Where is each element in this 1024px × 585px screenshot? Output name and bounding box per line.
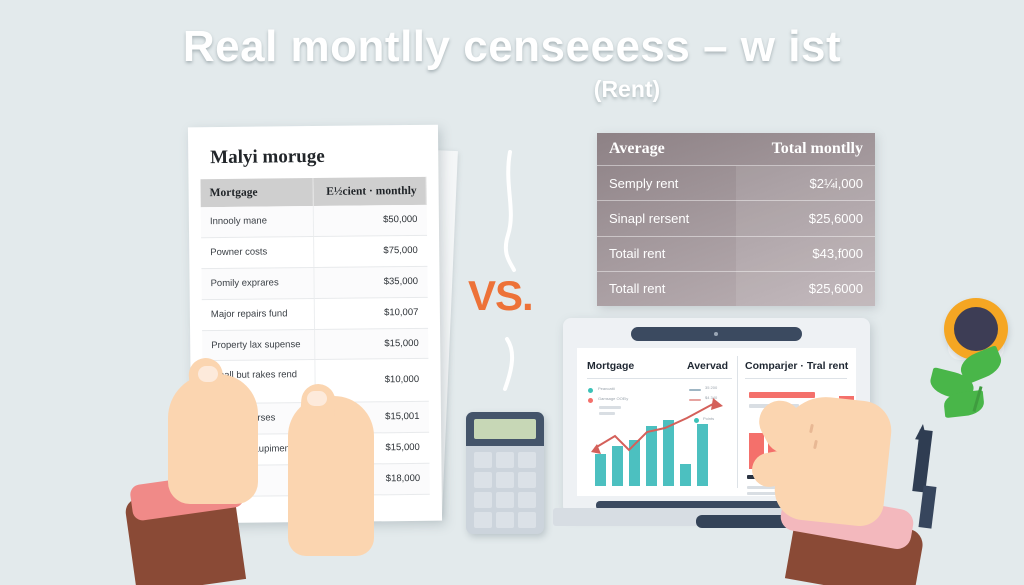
rent-table: Average Total montlly Semply rent$2¼i,00… (597, 133, 875, 306)
row-value: $25,6000 (736, 271, 875, 306)
row-value: $25,6000 (736, 201, 875, 236)
calculator[interactable] (466, 412, 544, 534)
table-row: Semply rent$2¼i,000 (597, 166, 875, 201)
calculator-key[interactable] (474, 512, 492, 528)
table-row: Totall rent$25,6000 (597, 271, 875, 306)
row-label: Major repairs fund (202, 298, 315, 330)
left-thumbnail (198, 366, 218, 382)
calculator-key[interactable] (474, 492, 492, 508)
row-value: $75,000 (314, 235, 427, 267)
divider (745, 378, 847, 379)
row-label: Pomily exprares (201, 267, 314, 299)
table-row: Major repairs fund$10,007 (202, 297, 428, 330)
row-value: $10,007 (314, 297, 427, 329)
table-row: Totail rent$43,f000 (597, 236, 875, 271)
row-label: Powner costs (201, 236, 314, 268)
legend-label-1: Peancatti (598, 386, 615, 391)
bar (680, 464, 691, 486)
calculator-key[interactable] (496, 472, 514, 488)
right-fingernail (307, 391, 327, 406)
calculator-key[interactable] (496, 492, 514, 508)
calculator-key[interactable] (518, 472, 536, 488)
row-label: Sinapl rersent (597, 201, 736, 236)
calculator-key[interactable] (496, 452, 514, 468)
page-title: Real montlly censeeess – w ist (0, 24, 1024, 70)
calculator-key[interactable] (474, 452, 492, 468)
panel-divider (737, 356, 738, 488)
table-header-row: Average Total montlly (597, 133, 875, 166)
squiggle-top-icon (490, 150, 530, 285)
table-row: Pomily exprares$35,000 (201, 266, 427, 299)
table-header-row: Mortgage E½cient · monthly (200, 177, 426, 207)
column-header-total: Total montlly (736, 133, 875, 166)
progress-bar-coral (749, 392, 815, 398)
row-value: $50,000 (314, 205, 427, 237)
scene: Real montlly censeeess – w ist (Rent) VS… (0, 0, 1024, 585)
column-header-label: Mortgage (200, 178, 313, 207)
coffee-surface (954, 307, 998, 351)
panel-heading-mortgage: Mortgage (587, 360, 634, 372)
calculator-key[interactable] (518, 492, 536, 508)
row-value: $35,000 (314, 266, 427, 298)
row-value: $2¼i,000 (736, 166, 875, 201)
row-label: Totall rent (597, 271, 736, 306)
squiggle-bottom-icon (495, 337, 525, 397)
document-heading: Malyi moruge (210, 145, 438, 169)
coffee-cup (944, 298, 1008, 360)
rent-summary-table: Average Total montlly Semply rent$2¼i,00… (597, 133, 875, 306)
title-block: Real montlly censeeess – w ist (Rent) (0, 24, 1024, 103)
column-header-value: E½cient · monthly (313, 177, 426, 206)
camera-icon (714, 332, 718, 336)
row-label: Totail rent (597, 236, 736, 271)
row-label: Innooly mane (201, 206, 314, 238)
placeholder-line (599, 412, 615, 415)
table-row: Powner costs$75,000 (201, 235, 427, 268)
legend-dot-teal-icon (588, 388, 593, 393)
vs-label: VS. (468, 272, 533, 320)
table-row: Property lax supense$15,000 (202, 328, 428, 361)
row-label: Property lax supense (202, 329, 315, 361)
legend-line-1-icon (689, 389, 701, 391)
column-header-average: Average (597, 133, 736, 166)
row-label: Semply rent (597, 166, 736, 201)
calculator-keypad[interactable] (474, 452, 536, 528)
panel-heading-average: Avervad (687, 360, 728, 372)
row-value: $15,000 (315, 328, 428, 360)
row-value: $43,f000 (736, 236, 875, 271)
calculator-key[interactable] (496, 512, 514, 528)
table-row: Innooly mane$50,000 (201, 205, 427, 238)
calculator-key[interactable] (518, 512, 536, 528)
panel-heading-comparison: Comparjer · Tral rent (745, 360, 848, 372)
table-row: Sinapl rersent$25,6000 (597, 201, 875, 236)
calculator-display (474, 419, 536, 439)
page-subtitle: (Rent) (230, 76, 1024, 103)
calculator-key[interactable] (474, 472, 492, 488)
average-value-1: 35 200 (705, 385, 717, 390)
divider (587, 378, 732, 379)
calculator-key[interactable] (518, 452, 536, 468)
placeholder-line (599, 406, 621, 409)
